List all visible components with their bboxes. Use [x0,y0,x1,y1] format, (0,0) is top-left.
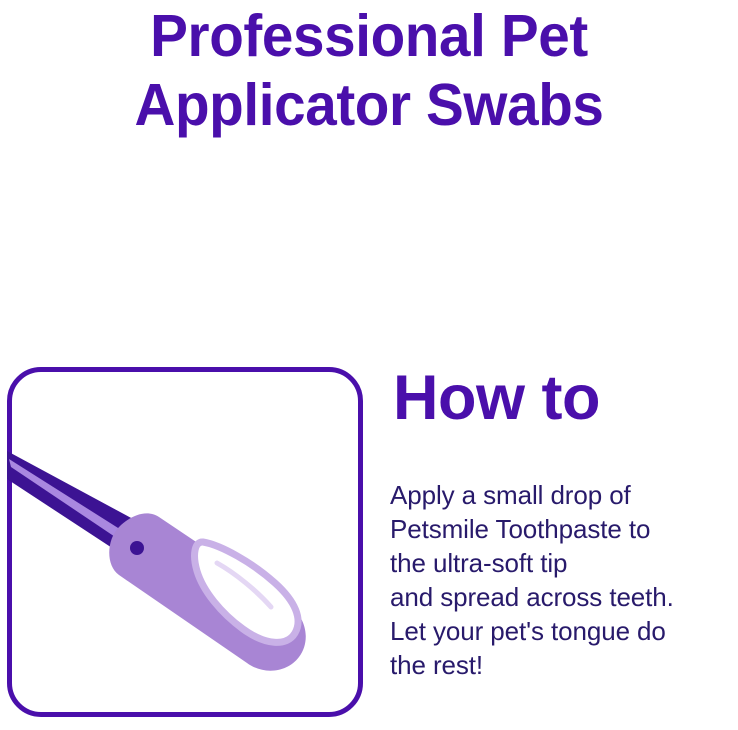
instruction-line: Petsmile Toothpaste to [390,512,738,546]
page-title: Professional Pet Applicator Swabs [0,0,738,140]
page-title-line-2: Applicator Swabs [15,71,723,140]
swab-illustration-panel [7,367,363,717]
swab-tip-pivot-dot [130,541,144,555]
instruction-line: and spread across teeth. [390,580,738,614]
instruction-line: Let your pet's tongue do [390,614,738,648]
page-title-line-1: Professional Pet [15,2,723,71]
instruction-line: the rest! [390,648,738,682]
applicator-swab-illustration [7,367,363,717]
howto-instructions: Apply a small drop of Petsmile Toothpast… [390,478,738,682]
howto-heading: How to [393,363,600,433]
instruction-line: Apply a small drop of [390,478,738,512]
instruction-line: the ultra-soft tip [390,546,738,580]
